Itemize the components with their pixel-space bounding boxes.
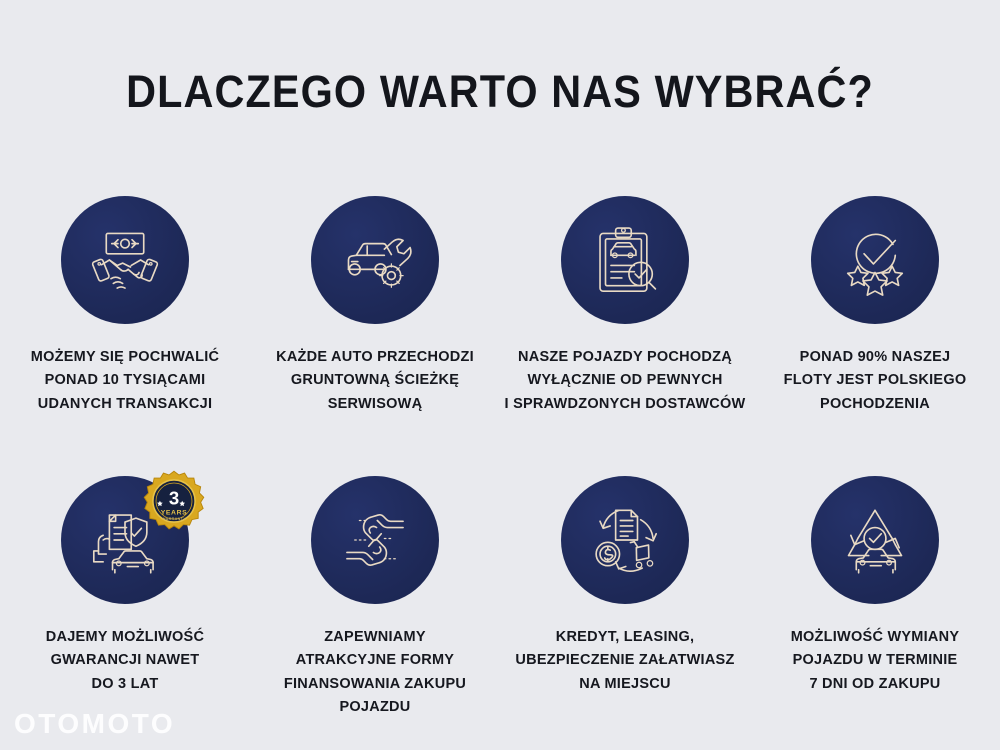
feature-icon-wrap-7 xyxy=(561,476,689,604)
caption-line: GRUNTOWNĄ ŚCIEŻKĘ xyxy=(251,369,499,392)
caption-line: WYŁĄCZNIE OD PEWNYCH xyxy=(501,369,749,392)
feature-caption-7: KREDYT, LEASING, UBEZPIECZENIE ZAŁATWIAS… xyxy=(501,626,749,696)
feature-caption-6: ZAPEWNIAMY ATRAKCYJNE FORMY FINANSOWANIA… xyxy=(251,626,499,720)
feature-card-8: MOŻLIWOŚĆ WYMIANY POJAZDU W TERMINIE 7 D… xyxy=(750,476,1000,750)
otomoto-logo: OTOMOTO xyxy=(14,708,175,740)
handshake-money-icon xyxy=(61,196,189,324)
caption-line: PONAD 90% NASZEJ xyxy=(751,346,999,369)
caption-line: NA MIEJSCU xyxy=(501,673,749,696)
feature-caption-1: MOŻEMY SIĘ POCHWALIĆ PONAD 10 TYSIĄCAMI … xyxy=(1,346,249,416)
feature-caption-4: PONAD 90% NASZEJ FLOTY JEST POLSKIEGO PO… xyxy=(751,346,999,416)
seal-number: 3 xyxy=(169,488,179,509)
caption-line: NASZE POJAZDY POCHODZĄ xyxy=(501,346,749,369)
caption-line: ZAPEWNIAMY xyxy=(251,626,499,649)
feature-card-3: NASZE POJAZDY POCHODZĄ WYŁĄCZNIE OD PEWN… xyxy=(500,196,750,476)
feature-card-2: KAŻDE AUTO PRZECHODZI GRUNTOWNĄ ŚCIEŻKĘ … xyxy=(250,196,500,476)
feature-caption-2: KAŻDE AUTO PRZECHODZI GRUNTOWNĄ ŚCIEŻKĘ … xyxy=(251,346,499,416)
caption-line: FLOTY JEST POLSKIEGO xyxy=(751,369,999,392)
caption-line: I SPRAWDZONYCH DOSTAWCÓW xyxy=(501,393,749,416)
caption-line: POJAZDU xyxy=(251,696,499,719)
feature-icon-wrap-5: 3 YEARS WARRANTY xyxy=(61,476,189,604)
features-grid: MOŻEMY SIĘ POCHWALIĆ PONAD 10 TYSIĄCAMI … xyxy=(0,196,1000,750)
caption-line: POCHODZENIA xyxy=(751,393,999,416)
hands-exchange-money-keys-icon xyxy=(311,476,439,604)
caption-line: GWARANCJI NAWET xyxy=(1,649,249,672)
feature-caption-5: DAJEMY MOŻLIWOŚĆ GWARANCJI NAWET DO 3 LA… xyxy=(1,626,249,696)
promo-banner: DLACZEGO WARTO NAS WYBRAĆ? xyxy=(0,0,1000,750)
car-exchange-return-check-icon xyxy=(811,476,939,604)
warranty-seal-badge: 3 YEARS WARRANTY xyxy=(143,470,205,532)
feature-caption-8: MOŻLIWOŚĆ WYMIANY POJAZDU W TERMINIE 7 D… xyxy=(751,626,999,696)
caption-line: SERWISOWĄ xyxy=(251,393,499,416)
caption-line: POJAZDU W TERMINIE xyxy=(751,649,999,672)
feature-icon-wrap-6 xyxy=(311,476,439,604)
caption-line: KREDYT, LEASING, xyxy=(501,626,749,649)
feature-icon-wrap-8 xyxy=(811,476,939,604)
caption-line: KAŻDE AUTO PRZECHODZI xyxy=(251,346,499,369)
car-service-wrench-gear-icon xyxy=(311,196,439,324)
caption-line: MOŻEMY SIĘ POCHWALIĆ xyxy=(1,346,249,369)
feature-icon-wrap-3 xyxy=(561,196,689,324)
seal-label: YEARS xyxy=(161,510,188,517)
feature-icon-wrap-2 xyxy=(311,196,439,324)
financing-cycle-document-coin-cart-icon xyxy=(561,476,689,604)
feature-card-7: KREDYT, LEASING, UBEZPIECZENIE ZAŁATWIAS… xyxy=(500,476,750,750)
page-title: DLACZEGO WARTO NAS WYBRAĆ? xyxy=(40,66,960,118)
feature-icon-wrap-4 xyxy=(811,196,939,324)
check-stars-quality-icon xyxy=(811,196,939,324)
caption-line: DAJEMY MOŻLIWOŚĆ xyxy=(1,626,249,649)
caption-line: FINANSOWANIA ZAKUPU xyxy=(251,673,499,696)
feature-card-1: MOŻEMY SIĘ POCHWALIĆ PONAD 10 TYSIĄCAMI … xyxy=(0,196,250,476)
caption-line: ATRAKCYJNE FORMY xyxy=(251,649,499,672)
feature-caption-3: NASZE POJAZDY POCHODZĄ WYŁĄCZNIE OD PEWN… xyxy=(501,346,749,416)
feature-icon-wrap-1 xyxy=(61,196,189,324)
clipboard-car-inspection-magnifier-icon xyxy=(561,196,689,324)
feature-card-4: PONAD 90% NASZEJ FLOTY JEST POLSKIEGO PO… xyxy=(750,196,1000,476)
caption-line: 7 DNI OD ZAKUPU xyxy=(751,673,999,696)
feature-card-6: ZAPEWNIAMY ATRAKCYJNE FORMY FINANSOWANIA… xyxy=(250,476,500,750)
caption-line: MOŻLIWOŚĆ WYMIANY xyxy=(751,626,999,649)
caption-line: PONAD 10 TYSIĄCAMI xyxy=(1,369,249,392)
caption-line: DO 3 LAT xyxy=(1,673,249,696)
caption-line: UBEZPIECZENIE ZAŁATWIASZ xyxy=(501,649,749,672)
seal-sublabel: WARRANTY xyxy=(162,517,186,521)
caption-line: UDANYCH TRANSAKCJI xyxy=(1,393,249,416)
